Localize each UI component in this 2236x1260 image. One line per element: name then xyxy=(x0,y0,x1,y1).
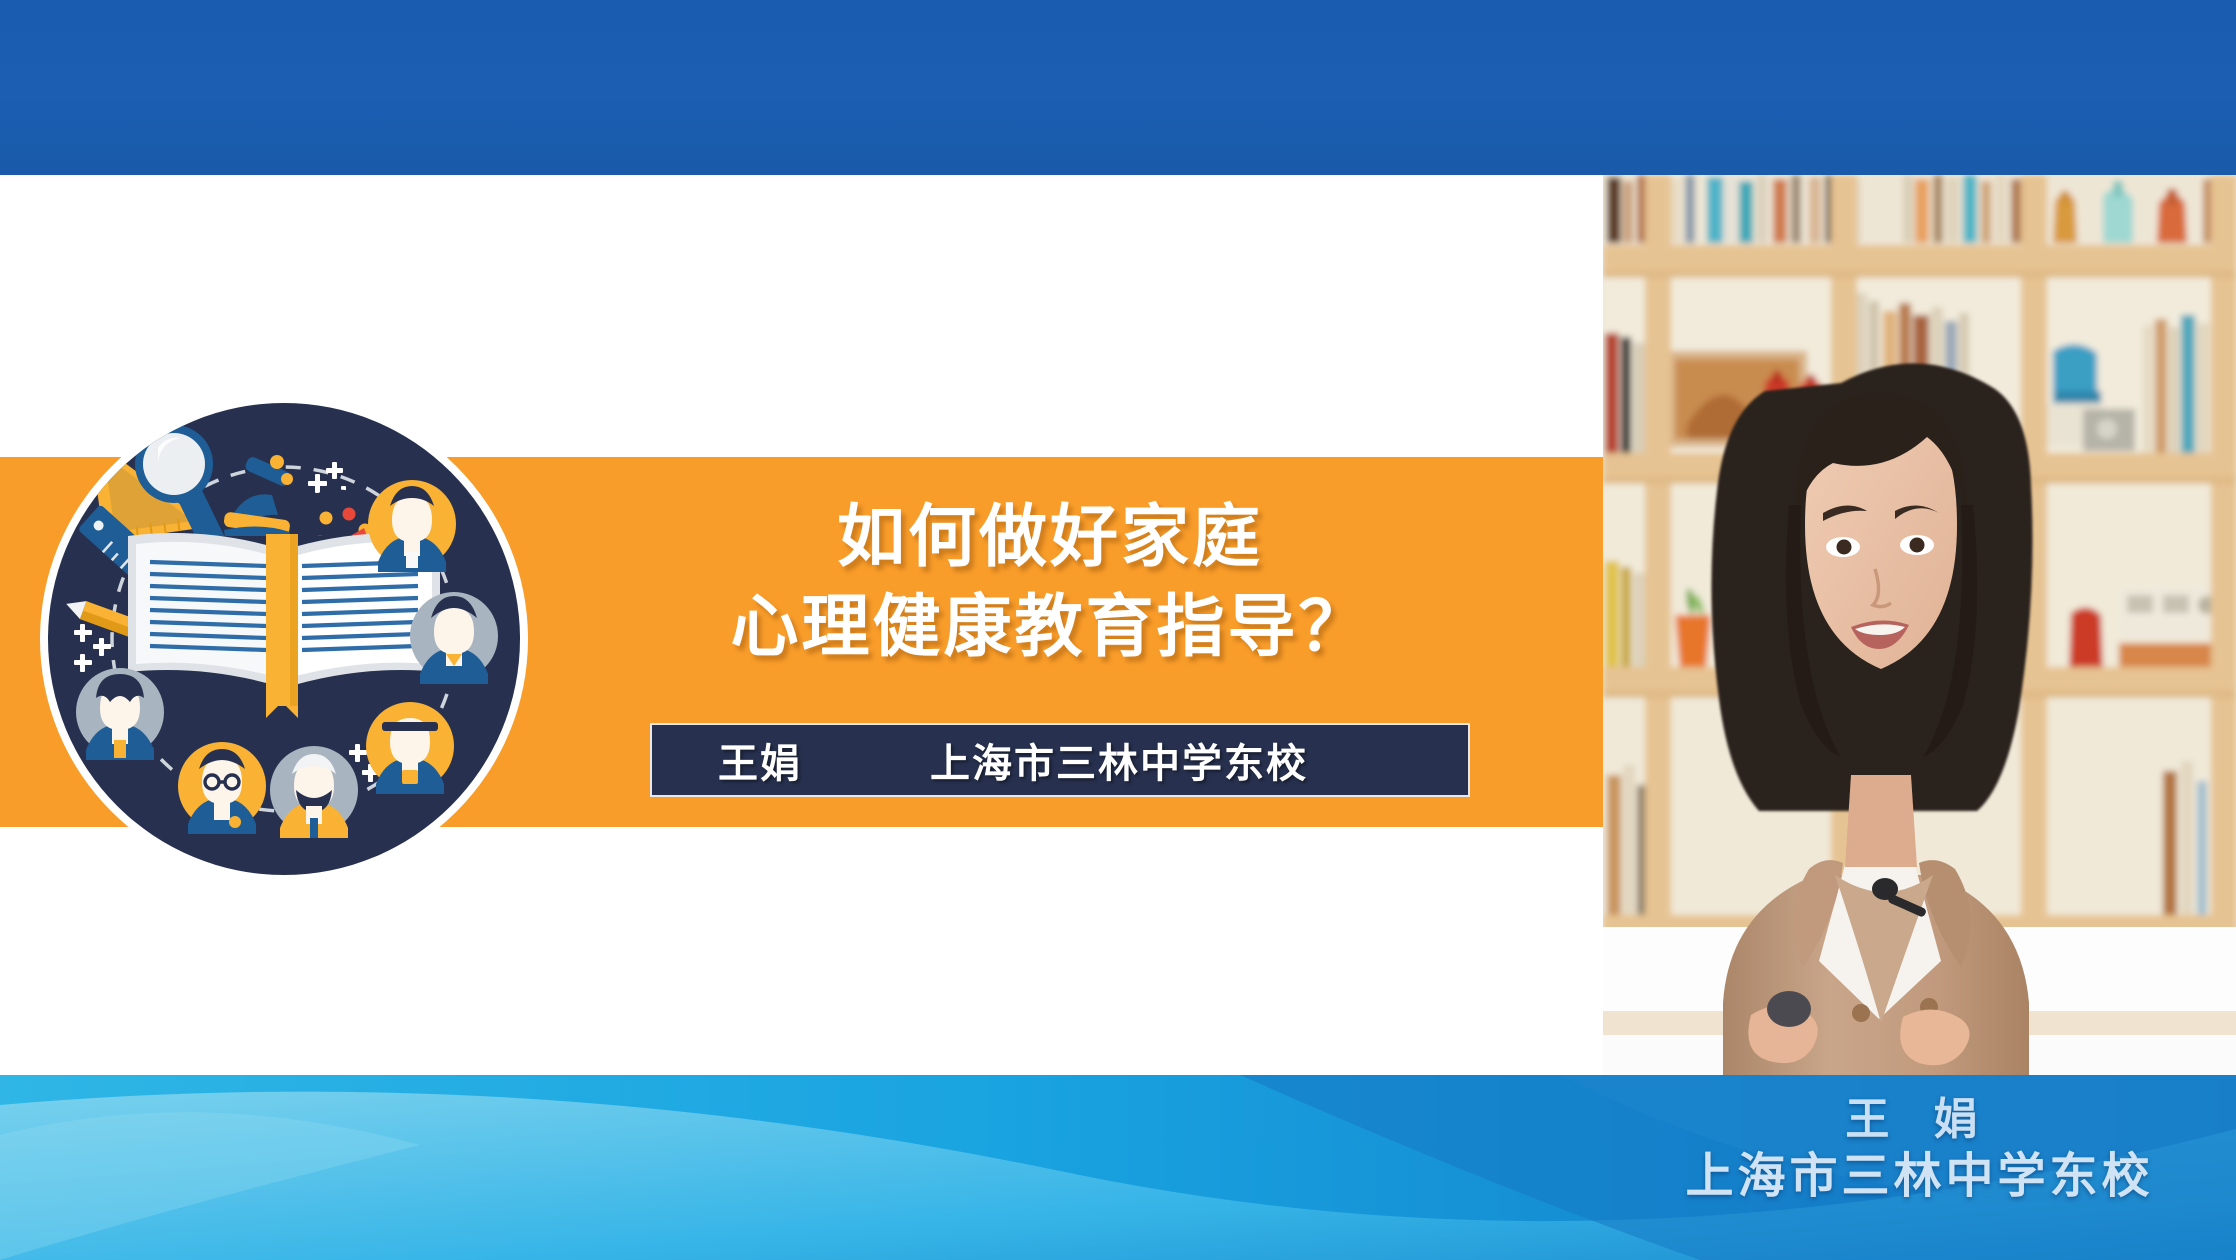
bookmark-icon xyxy=(266,534,298,718)
top-blue-bar xyxy=(0,0,2236,175)
presenter-video-feed[interactable] xyxy=(1603,175,2236,1075)
avatar-6 xyxy=(76,668,164,760)
avatar-4 xyxy=(270,746,358,838)
title-line-1: 如何做好家庭 xyxy=(600,492,1500,582)
education-book-network-logo xyxy=(38,366,534,912)
presenter-figure xyxy=(1711,363,2032,1075)
footer-caption: 王 娟 上海市三林中学东校 xyxy=(1603,1075,2236,1260)
presenter-name: 王娟 xyxy=(718,731,802,789)
presenter-name-bar: 王娟 上海市三林中学东校 xyxy=(650,723,1470,797)
slide-title: 如何做好家庭 心理健康教育指导？ xyxy=(600,492,1500,672)
slide-canvas: 如何做好家庭 心理健康教育指导？ 王娟 上海市三林中学东校 xyxy=(0,0,2236,1260)
avatar-1 xyxy=(368,480,456,572)
avatar-3 xyxy=(366,702,454,794)
remote-clicker xyxy=(1767,991,1811,1027)
avatar-2 xyxy=(410,592,498,684)
footer-blue-band: 王 娟 上海市三林中学东校 xyxy=(0,1075,2236,1260)
presenter-school: 上海市三林中学东校 xyxy=(930,731,1308,789)
title-line-2: 心理健康教育指导？ xyxy=(600,582,1500,672)
footer-presenter-school: 上海市三林中学东校 xyxy=(1603,1147,2236,1207)
avatar-5 xyxy=(178,742,266,834)
footer-presenter-name: 王 娟 xyxy=(1603,1093,2236,1147)
